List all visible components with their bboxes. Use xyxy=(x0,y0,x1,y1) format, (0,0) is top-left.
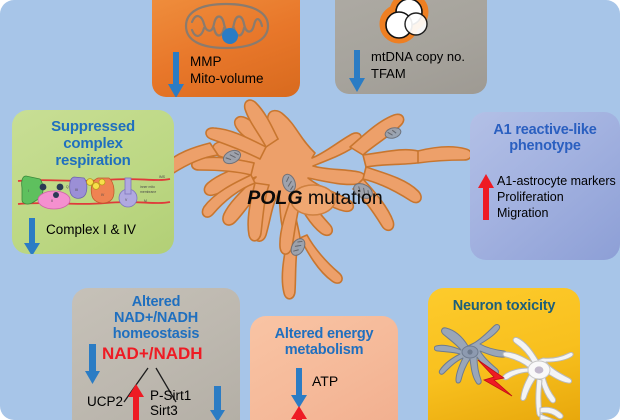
tfam-label: TFAM xyxy=(371,67,406,82)
proliferation-label: Proliferation xyxy=(497,190,564,204)
up-arrow-icon xyxy=(291,406,307,420)
up-arrow-icon xyxy=(128,384,144,420)
panel-suppressed-respiration: Suppressed complex respiration xyxy=(12,110,174,254)
down-arrow-icon xyxy=(24,218,40,254)
mtdna-circles-icon xyxy=(373,0,439,54)
panel-mtdna: mtDNA copy no. TFAM xyxy=(335,0,487,94)
svg-text:II: II xyxy=(51,199,53,203)
complex-i-iv-label: Complex I & IV xyxy=(46,222,136,237)
panel-title: A1 reactive-like phenotype xyxy=(470,122,620,154)
nad-ratio-label: NAD+/NADH xyxy=(102,344,203,364)
panel-mitochondrial-function: MMP Mito-volume xyxy=(152,0,300,97)
panel-a1-phenotype: A1 reactive-like phenotype A1-astrocyte … xyxy=(470,112,620,260)
svg-text:Q: Q xyxy=(66,185,69,189)
panel-title: Altered energy metabolism xyxy=(250,326,398,358)
svg-text:M: M xyxy=(144,199,147,203)
mitochondrion-icon xyxy=(180,0,274,52)
atp-label: ATP xyxy=(312,374,338,390)
panel-energy-metabolism: Altered energy metabolism ATP xyxy=(250,316,398,420)
migration-label: Migration xyxy=(497,206,548,220)
down-arrow-icon xyxy=(210,386,225,420)
a1-markers-label: A1-astrocyte markers xyxy=(497,174,616,188)
sirt-label: P-Sirt1 Sirt3 xyxy=(150,388,191,419)
mito-dot xyxy=(222,28,238,44)
mmp-label: MMP xyxy=(190,54,222,69)
panel-title: Suppressed complex respiration xyxy=(12,119,174,169)
electron-transport-chain-icon: IIIIII IVV Qinner mito membraneIMSM xyxy=(16,172,172,216)
down-arrow-icon xyxy=(291,368,307,408)
down-arrow-icon xyxy=(168,52,184,97)
figure-canvas: POLG mutation MMP Mito-volume xyxy=(0,0,620,420)
mito-volume-label: Mito-volume xyxy=(190,71,264,86)
panel-neuron-toxicity: Neuron toxicity xyxy=(428,288,580,420)
center-label: POLG mutation xyxy=(150,187,480,210)
panel-title: Altered NAD+/NADH homeostasis xyxy=(72,294,240,343)
ucp2-label: UCP2 xyxy=(87,394,123,409)
panel-title: Neuron toxicity xyxy=(428,298,580,314)
neurons-lightning-icon xyxy=(434,322,580,420)
svg-text:III: III xyxy=(75,188,78,192)
polg-gene-label: POLG xyxy=(247,187,302,209)
mtdna-copy-label: mtDNA copy no. xyxy=(371,50,465,65)
up-arrow-icon xyxy=(478,174,494,220)
svg-text:I: I xyxy=(28,189,29,193)
svg-text:IMS: IMS xyxy=(159,175,166,179)
down-arrow-icon xyxy=(349,50,365,92)
panel-nad-homeostasis: Altered NAD+/NADH homeostasis NAD+/NADH … xyxy=(72,288,240,420)
mutation-label: mutation xyxy=(303,187,383,209)
